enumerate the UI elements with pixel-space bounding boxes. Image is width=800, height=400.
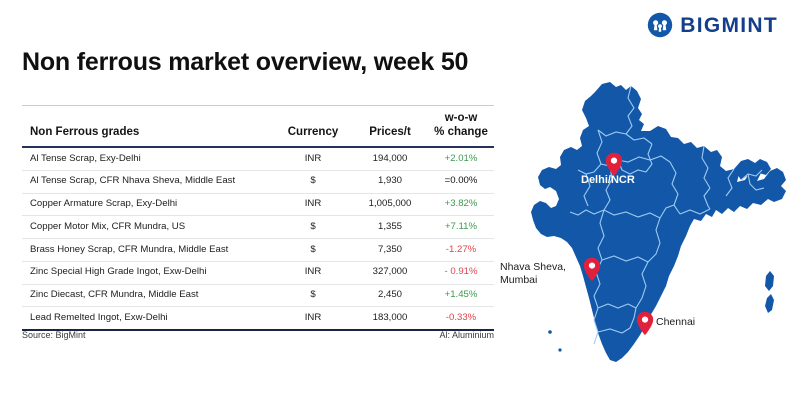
abbreviation-note: Al: Aluminium bbox=[439, 330, 494, 340]
cell-grade: Al Tense Scrap, Exy-Delhi bbox=[22, 147, 274, 170]
table-row: Zinc Special High Grade Ingot, Exw-Delhi… bbox=[22, 261, 494, 284]
cell-currency: INR bbox=[274, 261, 352, 284]
cell-change: +7.11% bbox=[428, 216, 494, 239]
table-row: Brass Honey Scrap, CFR Mundra, Middle Ea… bbox=[22, 239, 494, 262]
map-label-delhi: Delhi/NCR bbox=[581, 174, 635, 186]
column-header-change-line2: % change bbox=[428, 126, 494, 140]
cell-price: 1,005,000 bbox=[352, 193, 428, 216]
prices-table: Non Ferrous grades Currency Prices/t w-o… bbox=[22, 105, 494, 331]
table-row: Copper Armature Scrap, Exy-DelhiINR1,005… bbox=[22, 193, 494, 216]
cell-currency: $ bbox=[274, 284, 352, 307]
cell-change: -0.33% bbox=[428, 307, 494, 330]
table-row: Al Tense Scrap, CFR Nhava Sheva, Middle … bbox=[22, 170, 494, 193]
cell-currency: $ bbox=[274, 239, 352, 262]
table-row: Copper Motor Mix, CFR Mundra, US$1,355+7… bbox=[22, 216, 494, 239]
cell-change: +2.01% bbox=[428, 147, 494, 170]
map-label-nhava-sheva-mumbai: Nhava Sheva, Mumbai bbox=[500, 261, 566, 288]
non-ferrous-prices-table: Non Ferrous grades Currency Prices/t w-o… bbox=[22, 105, 494, 331]
table-header: Non Ferrous grades Currency Prices/t w-o… bbox=[22, 106, 494, 148]
cell-change: +3.82% bbox=[428, 193, 494, 216]
cell-grade: Copper Motor Mix, CFR Mundra, US bbox=[22, 216, 274, 239]
table-body: Al Tense Scrap, Exy-DelhiINR194,000+2.01… bbox=[22, 147, 494, 330]
india-map: Delhi/NCR Nhava Sheva, Mumbai Chennai bbox=[498, 58, 800, 400]
footnotes: Source: BigMint Al: Aluminium bbox=[22, 330, 494, 340]
cell-price: 327,000 bbox=[352, 261, 428, 284]
column-header-grade: Non Ferrous grades bbox=[22, 106, 274, 148]
table-header-row: Non Ferrous grades Currency Prices/t w-o… bbox=[22, 106, 494, 148]
column-header-change: w-o-w % change bbox=[428, 106, 494, 148]
cell-grade: Zinc Diecast, CFR Mundra, Middle East bbox=[22, 284, 274, 307]
table-row: Al Tense Scrap, Exy-DelhiINR194,000+2.01… bbox=[22, 147, 494, 170]
cell-grade: Zinc Special High Grade Ingot, Exw-Delhi bbox=[22, 261, 274, 284]
cell-price: 1,930 bbox=[352, 170, 428, 193]
cell-change: - 0.91% bbox=[428, 261, 494, 284]
map-label-chennai: Chennai bbox=[656, 316, 695, 329]
bigmint-logo: BIGMINT bbox=[647, 12, 778, 38]
india-map-svg bbox=[498, 58, 800, 400]
cell-currency: $ bbox=[274, 216, 352, 239]
map-pin-chennai[interactable] bbox=[636, 311, 654, 336]
bigmint-circle-mark bbox=[647, 12, 673, 38]
logo-text: BIGMINT bbox=[680, 15, 778, 36]
table-row: Zinc Diecast, CFR Mundra, Middle East$2,… bbox=[22, 284, 494, 307]
column-header-price: Prices/t bbox=[352, 106, 428, 148]
cell-price: 2,450 bbox=[352, 284, 428, 307]
cell-grade: Copper Armature Scrap, Exy-Delhi bbox=[22, 193, 274, 216]
page-title: Non ferrous market overview, week 50 bbox=[22, 48, 468, 77]
cell-grade: Al Tense Scrap, CFR Nhava Sheva, Middle … bbox=[22, 170, 274, 193]
column-header-change-line1: w-o-w bbox=[428, 112, 494, 126]
cell-change: +1.45% bbox=[428, 284, 494, 307]
table-row: Lead Remelted Ingot, Exw-DelhiINR183,000… bbox=[22, 307, 494, 330]
cell-change: -1.27% bbox=[428, 239, 494, 262]
cell-price: 194,000 bbox=[352, 147, 428, 170]
cell-grade: Brass Honey Scrap, CFR Mundra, Middle Ea… bbox=[22, 239, 274, 262]
column-header-currency: Currency bbox=[274, 106, 352, 148]
cell-change: =0.00% bbox=[428, 170, 494, 193]
source-note: Source: BigMint bbox=[22, 330, 86, 340]
cell-grade: Lead Remelted Ingot, Exw-Delhi bbox=[22, 307, 274, 330]
cell-currency: INR bbox=[274, 147, 352, 170]
cell-price: 1,355 bbox=[352, 216, 428, 239]
cell-currency: INR bbox=[274, 307, 352, 330]
cell-price: 183,000 bbox=[352, 307, 428, 330]
cell-price: 7,350 bbox=[352, 239, 428, 262]
map-pin-nhava-sheva-mumbai[interactable] bbox=[583, 257, 601, 282]
cell-currency: INR bbox=[274, 193, 352, 216]
cell-currency: $ bbox=[274, 170, 352, 193]
